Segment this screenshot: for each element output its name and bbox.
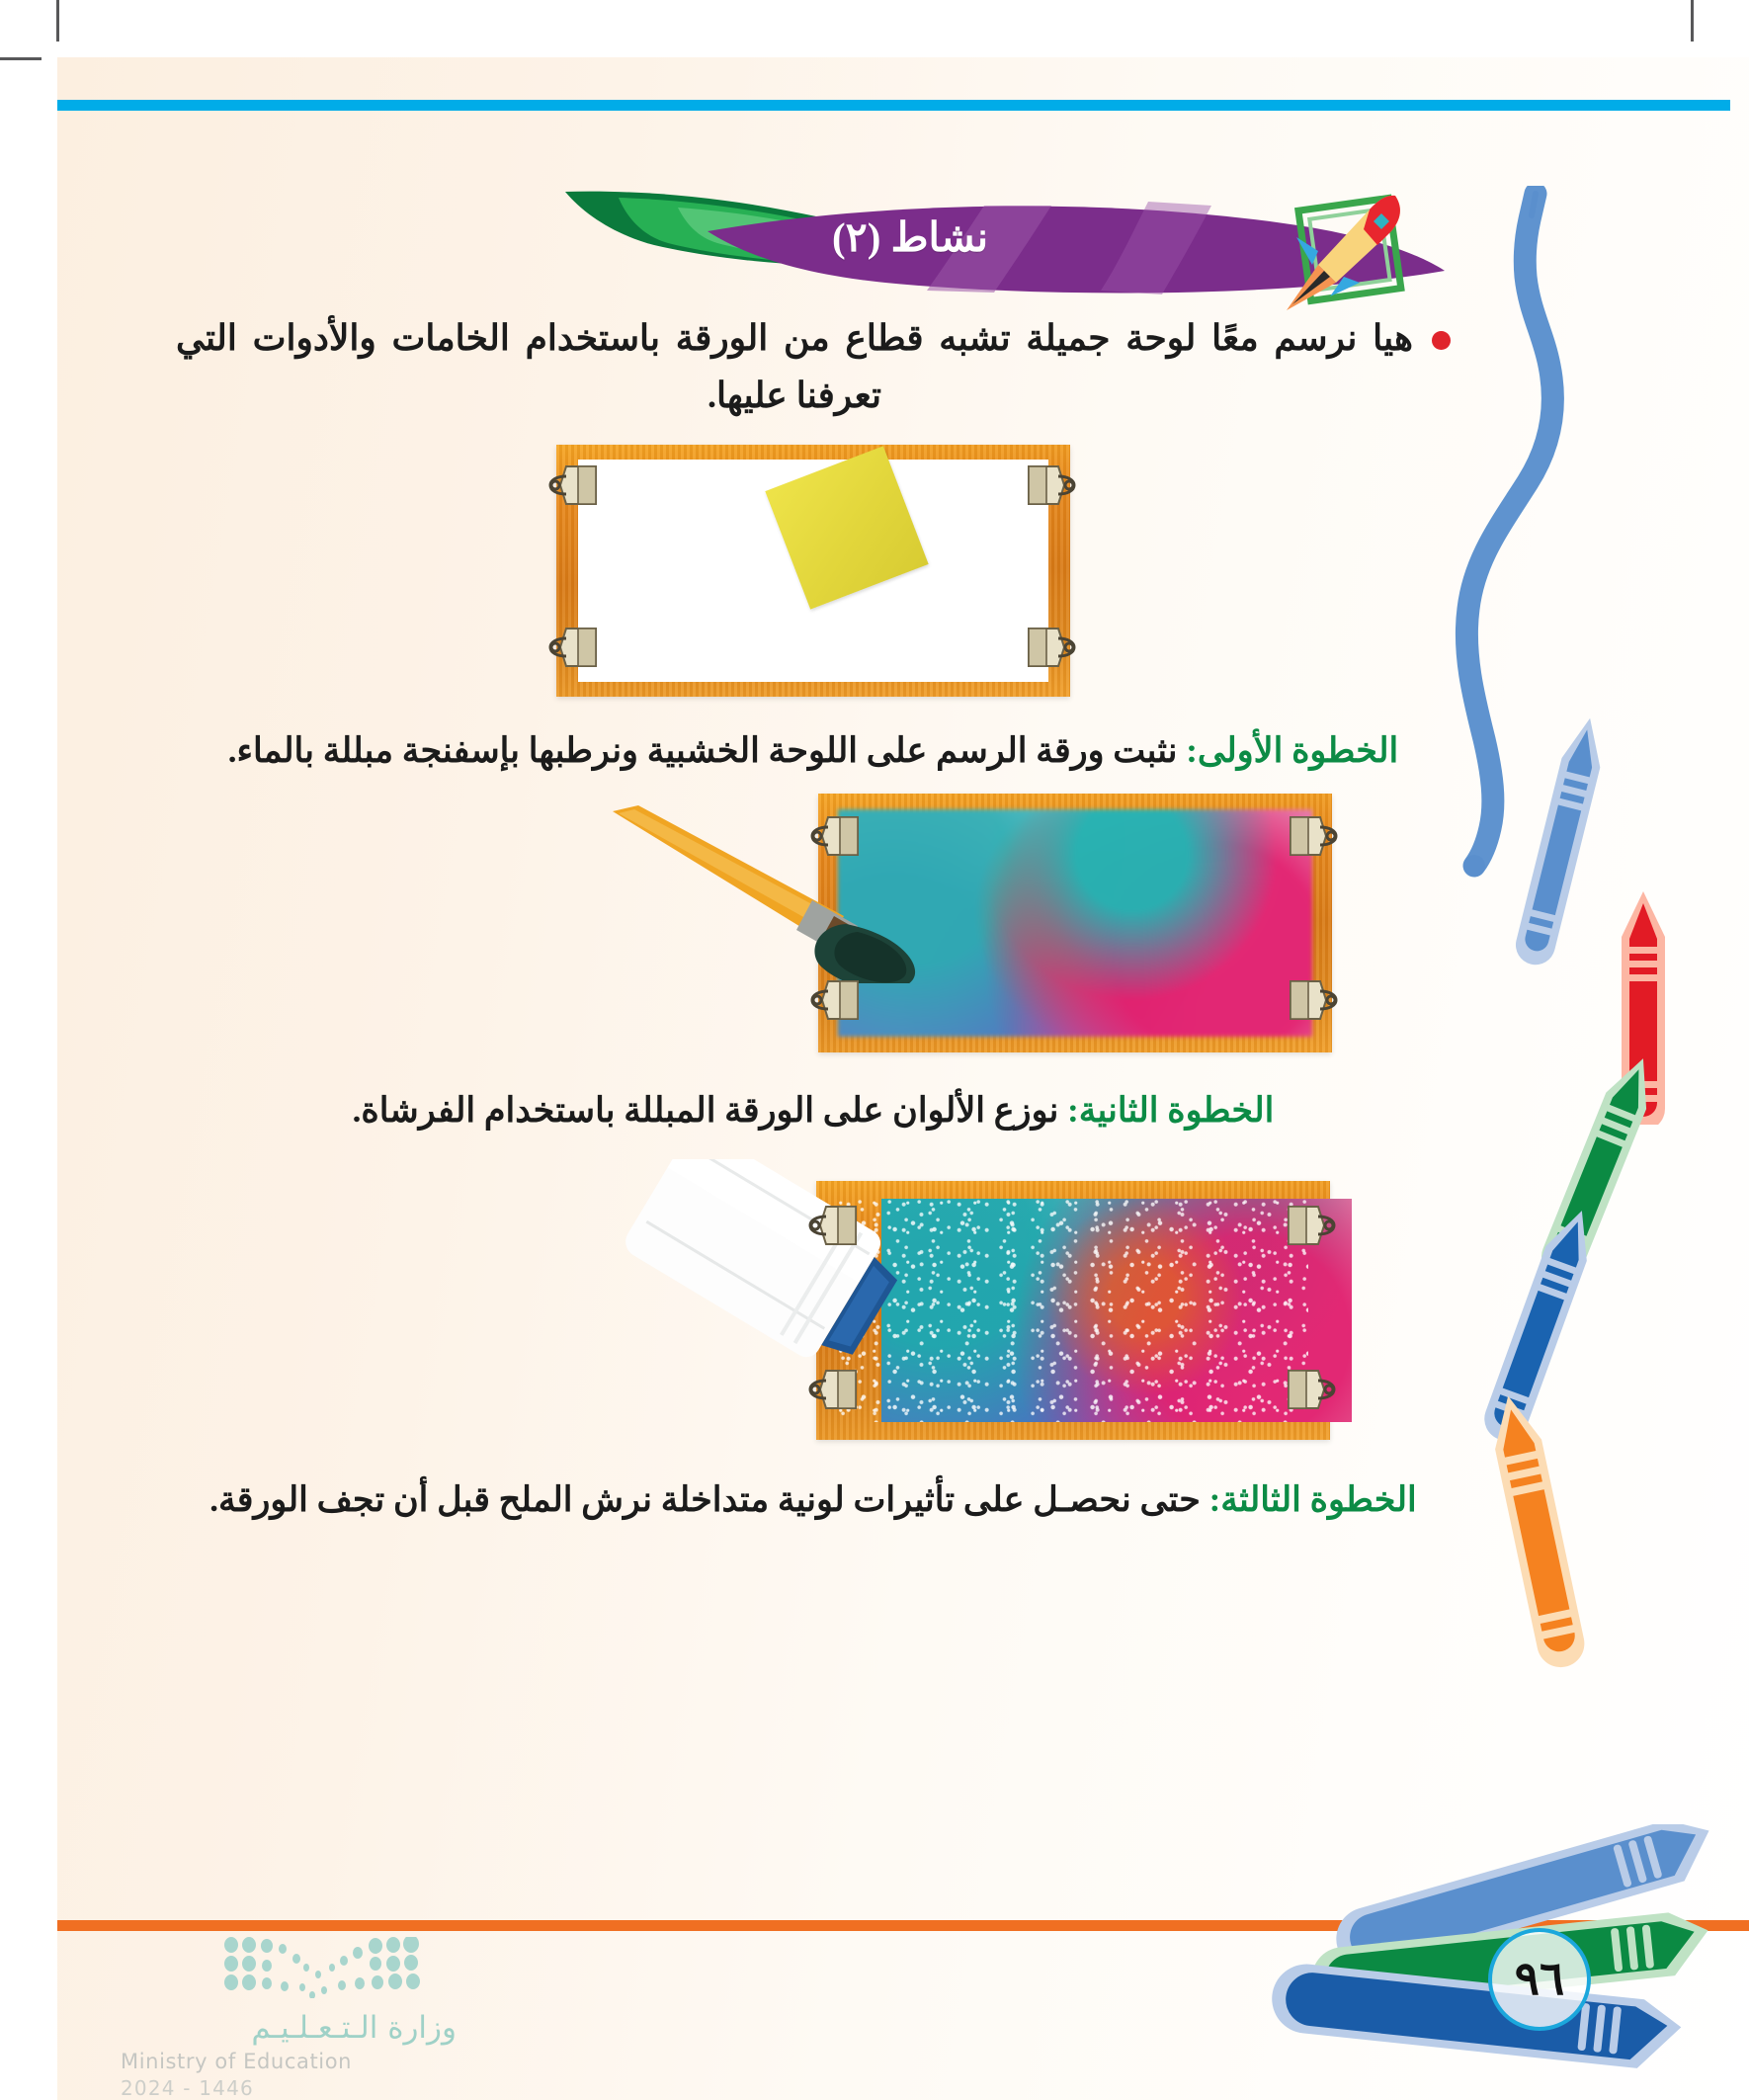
- step-3-paragraph: الخطوة الثالثة: حتى نحصـل على تأثيرات لو…: [176, 1471, 1451, 1529]
- lesson-content: هيا نرسم معًا لوحة جميلة تشبه قطاع من ال…: [176, 309, 1451, 1529]
- page-number-badge: ٩٦: [1488, 1928, 1591, 2031]
- binder-clip-top-right: [810, 813, 868, 859]
- binder-clip-bottom-left: [1281, 977, 1338, 1023]
- ministry-name-arabic: وزارة الـتـعـلـيـم: [121, 2010, 457, 2046]
- rocket-pencil-icon: [1279, 186, 1427, 314]
- header-rule: [57, 100, 1730, 111]
- figure-board-with-sponge: [556, 445, 1070, 697]
- step-1-paragraph: الخطوة الأولى: نثبت ورقة الرسم على اللوح…: [176, 722, 1451, 780]
- crayon-green-icon: [1540, 1046, 1668, 1283]
- binder-clip-bottom-right: [548, 625, 606, 670]
- ministry-year: 2024 - 1446: [121, 2076, 457, 2100]
- bullet-dot-icon: [1432, 331, 1451, 350]
- ministry-name-english: Ministry of Education: [121, 2050, 457, 2073]
- salt-shaker-icon: [611, 1159, 907, 1372]
- binder-clip-top-left: [1019, 462, 1076, 508]
- crop-mark-top-left-vertical: [56, 0, 59, 42]
- crop-mark-top-left-horizontal: [0, 57, 42, 60]
- ministry-footer: وزارة الـتـعـلـيـم Ministry of Education…: [121, 1937, 457, 2100]
- blue-crayon-stroke-icon: [1441, 186, 1579, 878]
- binder-clip-top-left: [1279, 1203, 1336, 1248]
- binder-clip-top-right: [808, 1203, 866, 1248]
- crayon-blue-dark-icon: [1480, 1199, 1609, 1446]
- figure-board-with-salt-shaker: [294, 1159, 1332, 1446]
- step-1-label: الخطوة الأولى:: [1186, 731, 1398, 770]
- intro-bullet-row: هيا نرسم معًا لوحة جميلة تشبه قطاع من ال…: [176, 309, 1451, 425]
- binder-clip-bottom-left: [1279, 1367, 1336, 1412]
- step-2-paragraph: الخطوة الثانية: نوزع الألوان على الورقة …: [176, 1082, 1451, 1139]
- intro-paragraph: هيا نرسم معًا لوحة جميلة تشبه قطاع من ال…: [176, 309, 1413, 425]
- textbook-page: نشاط (٢): [0, 0, 1749, 2100]
- crayon-blue-light-icon: [1505, 710, 1624, 966]
- binder-clip-bottom-left: [1019, 625, 1076, 670]
- binder-clip-top-right: [548, 462, 606, 508]
- activity-banner-label: نشاط (٢): [747, 213, 1073, 261]
- footer-rule: [57, 1920, 1749, 1931]
- crayon-fan-navy-icon: [1248, 1940, 1693, 2098]
- binder-clip-bottom-right: [808, 1367, 866, 1412]
- moe-dots-logo: [208, 1937, 435, 1998]
- step-2-label: الخطوة الثانية:: [1067, 1091, 1274, 1130]
- figure-board-with-brush: [294, 794, 1332, 1052]
- crop-mark-top-right-vertical: [1691, 0, 1694, 42]
- binder-clip-bottom-right: [810, 977, 868, 1023]
- step-3-label: الخطوة الثالثة:: [1209, 1480, 1417, 1519]
- step-3-text: حتى نحصـل على تأثيرات لونية متداخلة نرش …: [209, 1480, 1208, 1519]
- page-body: نشاط (٢): [57, 57, 1749, 2100]
- page-number: ٩٦: [1515, 1957, 1565, 2003]
- crayon-orange-icon: [1465, 1386, 1614, 1673]
- binder-clip-top-left: [1281, 813, 1338, 859]
- paint-brush-icon: [609, 805, 945, 983]
- step-2-text: نوزع الألوان على الورقة المبللة باستخدام…: [353, 1091, 1067, 1130]
- step-1-text: نثبت ورقة الرسم على اللوحة الخشبية ونرطب…: [228, 731, 1187, 770]
- crayon-red-icon: [1594, 887, 1693, 1125]
